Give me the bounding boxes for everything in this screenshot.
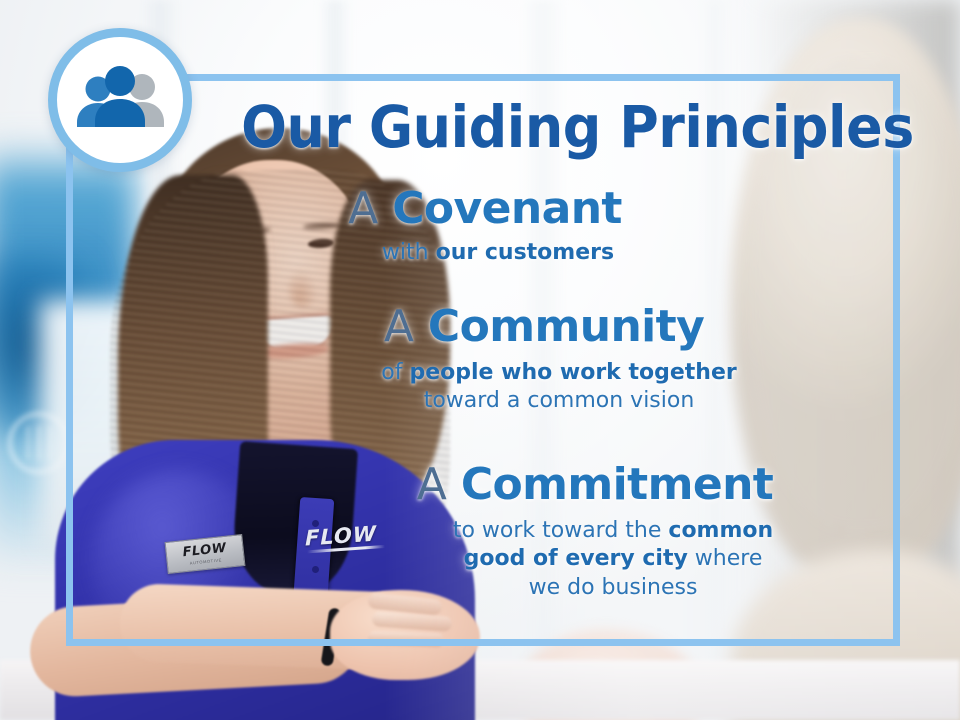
subline-text: where (688, 546, 763, 571)
principle-community-subtext: of people who work together toward a com… (0, 359, 960, 416)
principle-community: A Community of people who work together … (0, 304, 960, 416)
subline-text: to work toward the (453, 518, 669, 543)
principle-community-subline: of people who work together (158, 359, 960, 388)
subline-text: toward a common vision (424, 388, 695, 413)
people-group-badge (48, 28, 192, 172)
principle-covenant-subline: with our customers (36, 239, 960, 268)
subline-text: of (381, 360, 409, 385)
principle-covenant-subtext: with our customers (0, 239, 960, 268)
employee-finger (368, 631, 444, 648)
subline-text: with (382, 240, 436, 265)
principle-commitment-subline: good of every city where (266, 545, 960, 574)
principle-commitment-subline: we do business (266, 574, 960, 603)
principle-commitment: A Commitment to work toward the common g… (0, 462, 960, 602)
principle-commitment-heading: A Commitment (0, 462, 960, 509)
principle-community-heading: A Community (0, 304, 960, 351)
subline-text: we do business (529, 575, 698, 600)
principle-commitment-subtext: to work toward the common good of every … (0, 517, 960, 603)
people-group-icon (72, 64, 168, 136)
guiding-principles-graphic: FLOW AUTOMOTIVE FLOW (0, 0, 960, 720)
subline-emphasis: our customers (436, 240, 615, 265)
principle-covenant-keyword: Covenant (392, 183, 622, 234)
principle-community-subline: toward a common vision (158, 387, 960, 416)
principle-commitment-article: A (417, 459, 447, 510)
principle-covenant-article: A (348, 183, 378, 234)
page-title: Our Guiding Principles (241, 98, 855, 156)
subline-emphasis: good of every city (464, 546, 688, 571)
principle-covenant: A Covenant with our customers (0, 186, 960, 267)
subline-emphasis: people who work together (409, 360, 736, 385)
principle-covenant-heading: A Covenant (0, 186, 960, 233)
principle-community-keyword: Community (428, 301, 704, 352)
principle-commitment-subline: to work toward the common (266, 517, 960, 546)
subline-emphasis: common (668, 518, 773, 543)
principle-community-article: A (384, 301, 414, 352)
principle-commitment-keyword: Commitment (461, 459, 773, 510)
